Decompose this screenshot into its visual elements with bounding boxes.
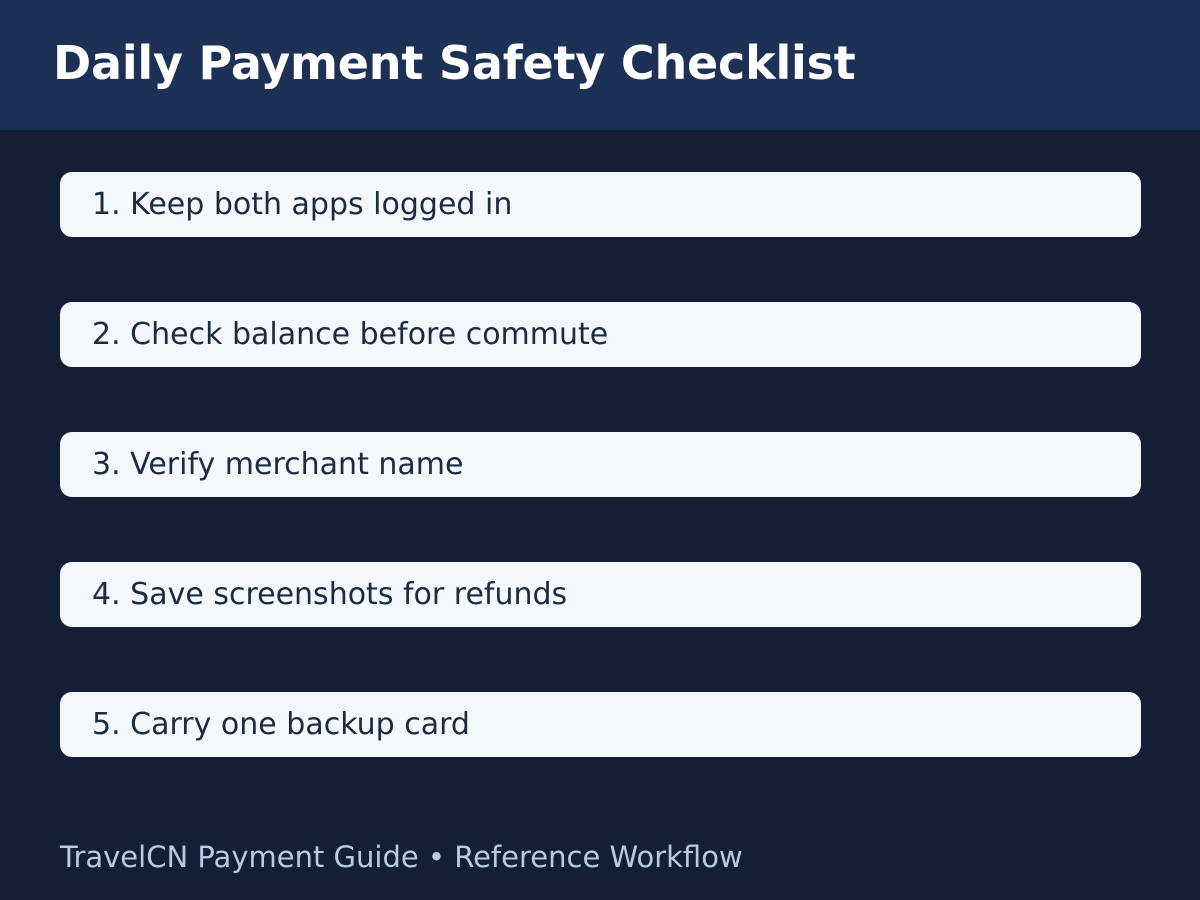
header-band: Daily Payment Safety Checklist	[0, 0, 1200, 130]
page-title: Daily Payment Safety Checklist	[53, 40, 856, 86]
checklist-item-label: 1. Keep both apps logged in	[60, 188, 512, 221]
checklist-item-1[interactable]: 1. Keep both apps logged in	[60, 172, 1141, 237]
checklist-item-label: 2. Check balance before commute	[60, 318, 608, 351]
checklist-item-label: 5. Carry one backup card	[60, 708, 470, 741]
checklist-item-5[interactable]: 5. Carry one backup card	[60, 692, 1141, 757]
checklist-item-label: 3. Verify merchant name	[60, 448, 463, 481]
footer-caption: TravelCN Payment Guide • Reference Workf…	[60, 840, 743, 875]
checklist-item-3[interactable]: 3. Verify merchant name	[60, 432, 1141, 497]
checklist-container: 1. Keep both apps logged in 2. Check bal…	[60, 172, 1141, 757]
checklist-item-label: 4. Save screenshots for refunds	[60, 578, 567, 611]
checklist-item-2[interactable]: 2. Check balance before commute	[60, 302, 1141, 367]
checklist-slide: Daily Payment Safety Checklist 1. Keep b…	[0, 0, 1200, 900]
checklist-item-4[interactable]: 4. Save screenshots for refunds	[60, 562, 1141, 627]
